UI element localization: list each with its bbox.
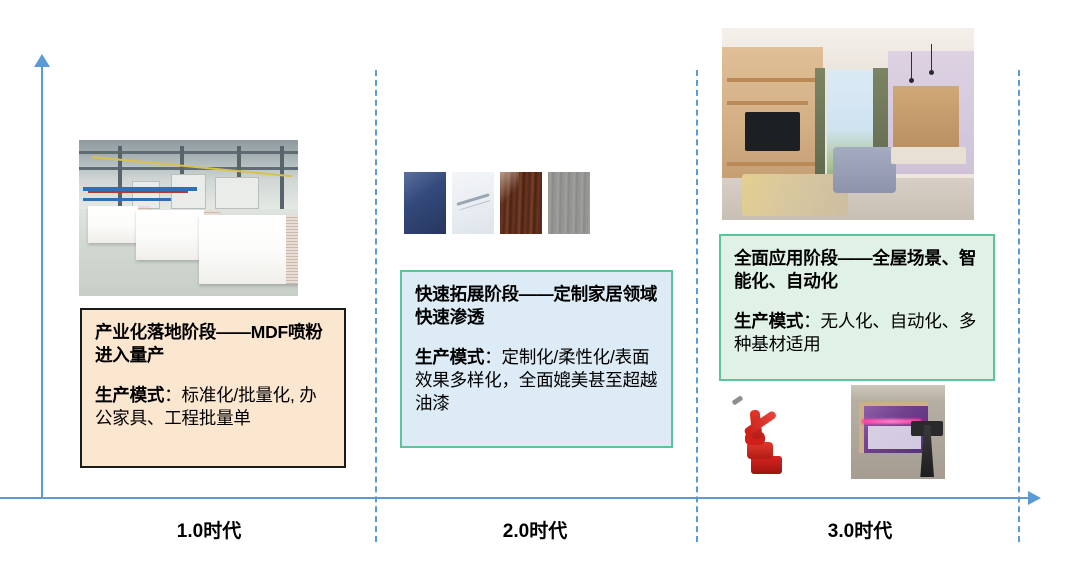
white-marble-panel-swatch [452, 172, 494, 234]
gray-woodgrain-panel-swatch [548, 172, 590, 234]
factory-mdf-board-stacks-photo [79, 140, 298, 296]
mdf-board-stack [199, 215, 298, 284]
era-label-2: 2.0时代 [455, 516, 615, 543]
wall-shelf [727, 101, 808, 105]
phase-2-text-box: 快速拓展阶段——定制家居领域快速渗透 生产模式：定制化/柔性化/表面效果多样化，… [400, 270, 673, 448]
factory-machine [132, 181, 160, 209]
phase-2-mode-line: 生产模式：定制化/柔性化/表面效果多样化，全面媲美甚至超越油漆 [415, 346, 658, 415]
vertical-axis-arrow-icon [34, 54, 50, 67]
workshop-ceiling [851, 385, 945, 402]
era-label-1: 1.0时代 [129, 516, 289, 543]
era-label-3: 3.0时代 [780, 516, 940, 543]
spacer [734, 293, 980, 310]
marble-vein [457, 193, 491, 206]
dining-table [891, 147, 967, 164]
dark-woodgrain-panel-swatch [500, 172, 542, 234]
factory-red-pipe [88, 191, 189, 193]
pendant-lamp [929, 70, 934, 75]
phase-3-mode-separator: ： [803, 311, 820, 331]
phase-3-mode-line: 生产模式：无人化、自动化、多种基材适用 [734, 310, 980, 356]
horizontal-axis-line [0, 497, 1030, 499]
factory-blue-rail [83, 198, 171, 201]
television [745, 112, 800, 150]
phase-1-mode-label: 生产模式 [95, 385, 164, 405]
phase-3-headline: 全面应用阶段——全屋场景、智能化、自动化 [734, 247, 980, 293]
phase-divider-1 [375, 70, 377, 542]
horizontal-axis-arrow-icon [1028, 491, 1041, 505]
red-industrial-robot-arm-photo [724, 390, 800, 474]
factory-column [280, 146, 284, 208]
slide-canvas: 产业化落地阶段——MDF喷粉进入量产 生产模式：标准化/批量化, 办公家具、工程… [0, 0, 1080, 567]
robot-wrist-tool [732, 396, 744, 406]
spacer [95, 367, 331, 384]
uv-coating-machine-photo [851, 385, 945, 479]
pendant-lamp [909, 78, 914, 83]
whole-house-living-room-interior-photo [722, 28, 974, 220]
phase-1-mode-separator: ： [164, 385, 181, 405]
phase-1-mode-line: 生产模式：标准化/批量化, 办公家具、工程批量单 [95, 384, 331, 430]
phase-2-mode-separator: ： [484, 347, 501, 367]
factory-machine [215, 177, 259, 208]
phase-3-text-box: 全面应用阶段——全屋场景、智能化、自动化 生产模式：无人化、自动化、多种基材适用 [719, 234, 995, 381]
wall-shelf [727, 78, 818, 82]
phase-1-text-box: 产业化落地阶段——MDF喷粉进入量产 生产模式：标准化/批量化, 办公家具、工程… [80, 308, 346, 468]
vertical-axis-line [41, 62, 43, 499]
navy-blue-panel-swatch [404, 172, 446, 234]
phase-3-mode-label: 生产模式 [734, 311, 803, 331]
swatch-highlight [500, 172, 519, 206]
factory-blue-rail [83, 187, 197, 191]
phase-2-mode-label: 生产模式 [415, 347, 484, 367]
wall-shelf [727, 162, 823, 166]
spacer [415, 329, 658, 346]
phase-1-headline: 产业化落地阶段——MDF喷粉进入量产 [95, 321, 331, 367]
factory-truss [79, 151, 298, 154]
sofa [833, 147, 896, 193]
phase-2-headline: 快速拓展阶段——定制家居领域快速渗透 [415, 283, 658, 329]
phase-divider-3 [1018, 70, 1020, 542]
mdf-board-stack-edge [286, 215, 298, 284]
dining-cabinet [893, 86, 959, 151]
phase-divider-2 [696, 70, 698, 542]
